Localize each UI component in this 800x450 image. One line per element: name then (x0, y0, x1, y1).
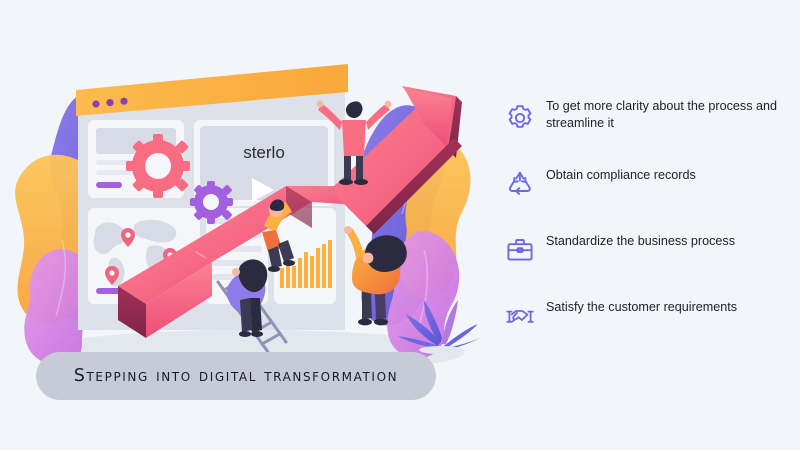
brand-text: sterlo (243, 143, 285, 162)
feature-item-standardize: Standardize the business process (498, 228, 794, 272)
page-title: Stepping into digital transformation (74, 366, 398, 386)
feature-list: To get more clarity about the process an… (498, 96, 794, 338)
recycle-icon (498, 162, 542, 206)
gear-icon (498, 96, 542, 140)
briefcase-icon (498, 228, 542, 272)
window-dot-maximize (120, 98, 127, 105)
feature-label-satisfy: Satisfy the customer requirements (542, 294, 794, 316)
handshake-icon (498, 294, 542, 338)
window-dot-minimize (106, 99, 113, 106)
feature-label-standardize: Standardize the business process (542, 228, 794, 250)
feature-label-compliance: Obtain compliance records (542, 162, 794, 184)
feature-label-clarity: To get more clarity about the process an… (542, 96, 794, 132)
feature-item-clarity: To get more clarity about the process an… (498, 96, 794, 140)
page-title-banner: Stepping into digital transformation (36, 352, 436, 400)
gear-purple-decor (190, 181, 233, 224)
feature-item-compliance: Obtain compliance records (498, 162, 794, 206)
gear-pink-decor (126, 134, 190, 198)
window-dot-close (92, 100, 99, 107)
feature-item-satisfy: Satisfy the customer requirements (498, 294, 794, 338)
screenshot-root: sterlo (0, 0, 800, 450)
